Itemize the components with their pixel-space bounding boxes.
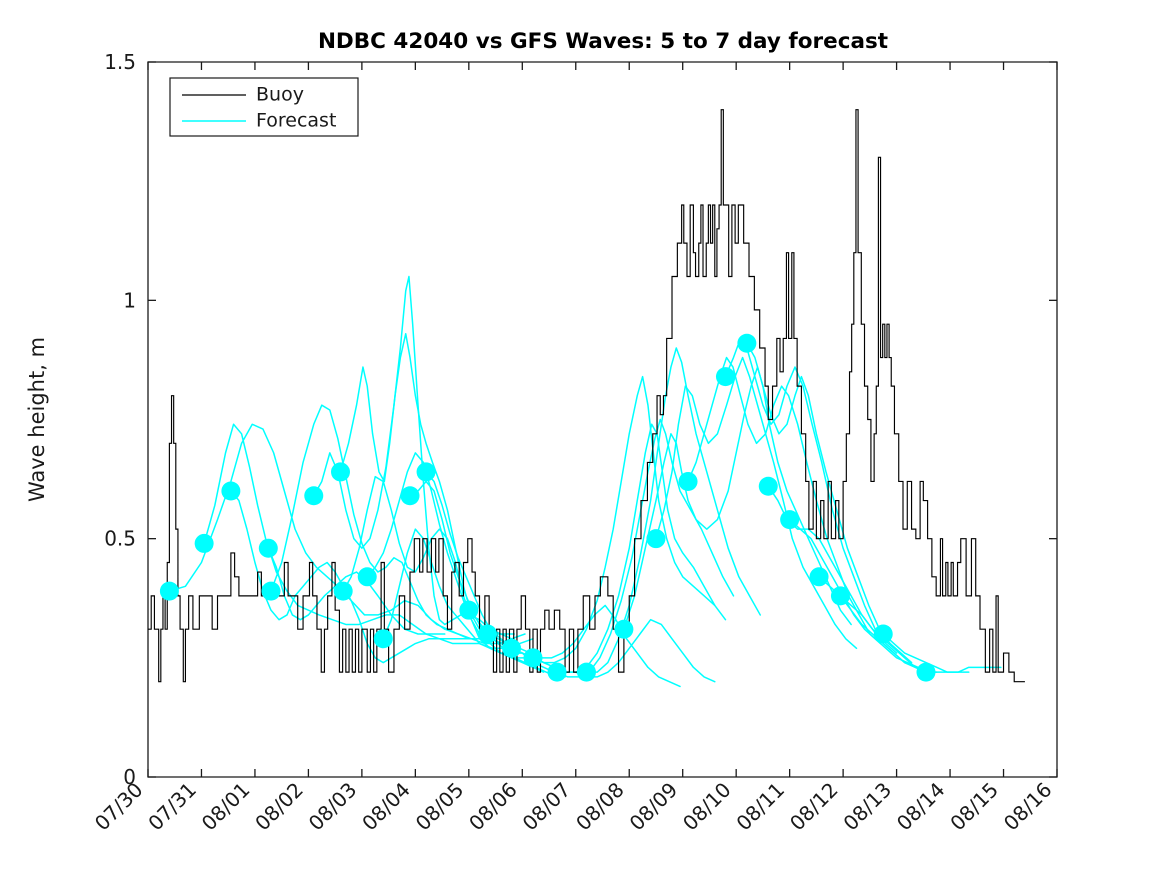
legend-label: Buoy bbox=[256, 84, 304, 106]
forecast-marker-dot bbox=[548, 663, 567, 682]
forecast-marker-dot bbox=[646, 529, 665, 548]
forecast-marker-dot bbox=[810, 567, 829, 586]
wave-height-chart: 00.511.5 07/3007/3108/0108/0208/0308/040… bbox=[0, 0, 1167, 875]
forecast-marker-dot bbox=[358, 567, 377, 586]
forecast-marker-dot bbox=[917, 663, 936, 682]
forecast-marker-dot bbox=[478, 625, 497, 644]
forecast-marker-dot bbox=[502, 639, 521, 658]
forecast-marker-dot bbox=[780, 510, 799, 529]
forecast-marker-dot bbox=[716, 367, 735, 386]
figure-canvas: 00.511.5 07/3007/3108/0108/0208/0308/040… bbox=[0, 0, 1167, 875]
y-axis-label: Wave height, m bbox=[25, 337, 49, 502]
forecast-marker-dot bbox=[331, 462, 350, 481]
forecast-marker-dot bbox=[459, 601, 478, 620]
forecast-marker-dot bbox=[401, 486, 420, 505]
forecast-marker-dot bbox=[874, 625, 893, 644]
y-tick-label: 1 bbox=[123, 288, 136, 312]
forecast-marker-dot bbox=[259, 539, 278, 558]
forecast-marker-dot bbox=[195, 534, 214, 553]
forecast-marker-dot bbox=[614, 620, 633, 639]
forecast-marker-dot bbox=[577, 663, 596, 682]
forecast-marker-dot bbox=[304, 486, 323, 505]
forecast-marker-dot bbox=[737, 334, 756, 353]
forecast-marker-dot bbox=[831, 586, 850, 605]
forecast-marker-dot bbox=[334, 582, 353, 601]
page-title: NDBC 42040 vs GFS Waves: 5 to 7 day fore… bbox=[318, 29, 888, 54]
forecast-marker-dot bbox=[759, 477, 778, 496]
forecast-marker-dot bbox=[261, 582, 280, 601]
forecast-marker-dot bbox=[523, 648, 542, 667]
forecast-marker-dot bbox=[221, 482, 240, 501]
forecast-marker-dot bbox=[374, 629, 393, 648]
forecast-marker-dot bbox=[160, 582, 179, 601]
legend-label: Forecast bbox=[256, 110, 336, 132]
chart-legend: BuoyForecast bbox=[170, 78, 358, 136]
y-tick-label: 0.5 bbox=[104, 527, 136, 551]
forecast-marker-dot bbox=[417, 462, 436, 481]
forecast-marker-dot bbox=[679, 472, 698, 491]
y-tick-label: 1.5 bbox=[104, 50, 136, 74]
